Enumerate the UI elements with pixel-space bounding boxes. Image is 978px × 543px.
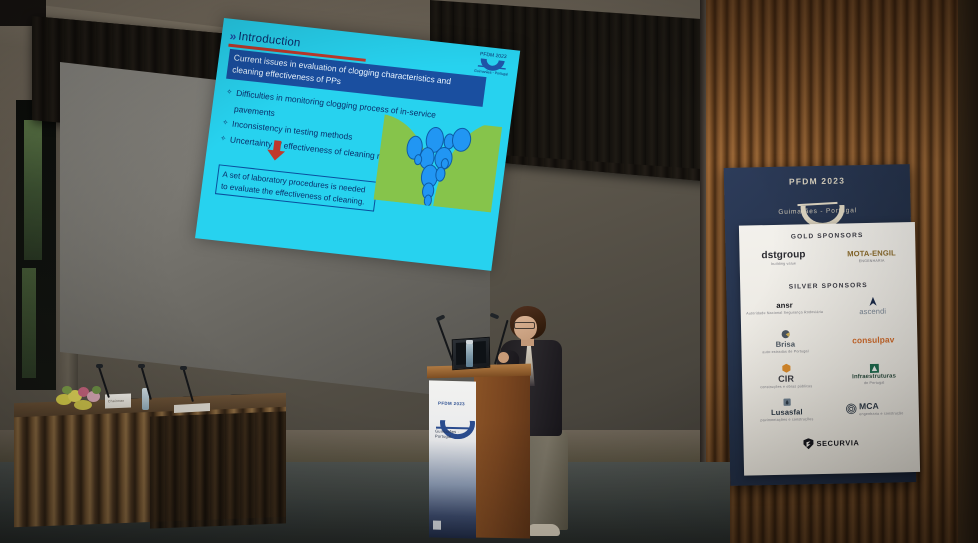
sponsor-tagline: pavimentações e construções [760,417,813,422]
window-greenery-upper [24,120,42,260]
presentation-photo: » Introduction PFDM 2023 Guimarães - Por… [0,0,978,543]
sponsor-name: ascendi [859,306,886,316]
sponsor-name: ansr [776,301,793,310]
gold-sponsors-grid: dstgroup building value MOTA-ENGIL ENGEN… [739,238,916,276]
sponsor-banner-header: PFDM 2023 Guimarães - Portugal [724,164,911,226]
cir-mark-icon [781,363,790,372]
silver-sponsors-grid: ansr Autoridade Nacional Segurança Rodov… [740,288,920,462]
bullet-diamond-icon: ✧ [221,116,229,132]
far-right-wall [958,0,978,543]
sponsor-logo: consulpav [829,322,918,358]
table-microphone-head [138,364,145,368]
sponsor-tagline: de Portugal [864,380,885,384]
pfdm-logo-icon: PFDM 2023 Guimarães · Portugal [436,401,469,436]
slide-conclusion-box: A set of laboratory procedures is needed… [215,164,378,211]
mca-fingerprint-icon [846,403,857,414]
sponsor-logo: Lusasfal pavimentações e construções [742,392,831,428]
sponsor-name: dstgroup [761,249,805,261]
bullet-diamond-icon: ✧ [223,85,233,116]
podium-water-bottle [466,343,473,367]
sponsor-tagline: building value [771,261,796,266]
podium-logo-title: PFDM 2023 [438,401,465,407]
sponsor-name: SECURVIA [816,438,859,448]
pfdm-logo-icon: PFDM 2023 Guimarães - Portugal [471,48,514,78]
flower-arrangement [54,384,110,412]
sponsor-logo: ansr Autoridade Nacional Segurança Rodov… [740,290,829,326]
event-title: PFDM 2023 [789,175,845,186]
ascendi-mark-icon [868,296,877,305]
podium-body [474,372,530,539]
sponsor-logo: MCA engenharia e construção [830,390,919,426]
sponsor-name: CIR [778,373,794,383]
window-greenery-lower [22,268,36,378]
sponsor-logo: MOTA-ENGIL ENGENHARIA [827,238,916,274]
infraestruturas-mark-icon [869,363,878,372]
speaker-glasses [514,322,535,329]
speaker-shoe [528,524,560,536]
sponsor-logo: SECURVIA [743,424,920,462]
sponsor-tagline: ENGENHARIA [859,259,885,264]
securvia-shield-icon [803,438,813,449]
sponsor-tagline: auto-estradas de Portugal [762,349,808,354]
brisa-mark-icon [781,330,790,339]
podium-water-bottle-cap [466,340,473,344]
sponsor-name: Brisa [776,340,796,349]
lusasfal-mark-icon [782,398,791,407]
sponsor-name: Infraestruturas [852,373,896,380]
head-table-skirt-shadowed [150,411,286,528]
chevron-right-icon: » [229,29,235,41]
projected-slide: » Introduction PFDM 2023 Guimarães - Por… [184,18,523,358]
table-microphone-head [96,364,103,368]
podium-front-banner: PFDM 2023 Guimarães · Portugal [429,380,476,538]
sponsor-name: MCA [859,400,903,411]
sponsor-logo: Infraestruturas de Portugal [830,356,919,392]
clogging-diagram [374,114,503,212]
sponsor-name: consulpav [852,334,895,345]
bullet-diamond-icon: ✧ [219,131,227,147]
sponsor-banner: PFDM 2023 Guimarães - Portugal GOLD SPON… [724,164,917,486]
podium-tag [433,520,441,529]
sponsor-logo: CIR construções e obras públicas [742,358,831,394]
sponsor-logo: dstgroup building value [739,240,828,276]
down-arrow-head-icon [266,150,285,162]
sponsor-logo: ascendi [828,288,917,324]
sponsor-tagline: Autoridade Nacional Segurança Rodoviária [746,310,823,316]
sponsor-name: Lusasfal [771,407,803,417]
sponsor-tagline: construções e obras públicas [760,384,812,389]
table-microphone-head [180,366,187,370]
sponsor-name: MOTA-ENGIL [847,248,896,258]
sponsor-logo: Brisa auto-estradas de Portugal [741,324,830,360]
sponsor-tagline: engenharia e construção [859,411,903,416]
pfdm-logo-icon [800,187,834,205]
speaker-hand [498,352,509,363]
sponsor-panel: GOLD SPONSORS dstgroup building value MO… [739,222,920,476]
podium-logo-subtitle: Guimarães · Portugal [435,429,469,440]
